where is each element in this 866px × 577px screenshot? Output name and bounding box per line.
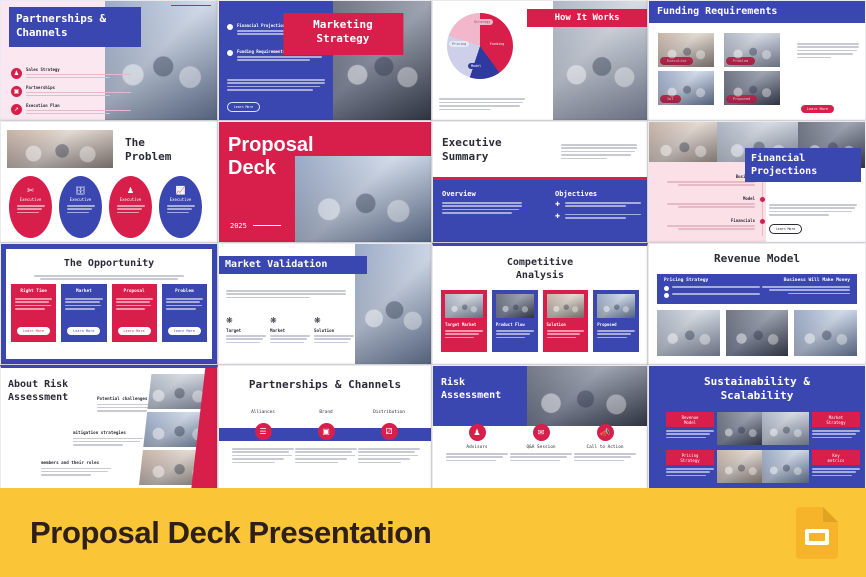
text-lines <box>666 430 714 438</box>
user-icon: ♟ <box>11 68 22 79</box>
left-heading: Pricing Strategy <box>664 278 760 283</box>
title-box: Financial Projections <box>745 148 861 182</box>
asterisk-icon: ❋ <box>270 316 310 325</box>
timeline-node <box>760 197 765 202</box>
slide-partnerships-channels-2[interactable]: Partnerships & Channels Alliances ☰ Bran… <box>218 365 432 492</box>
risk-column: ✉ Q&A Session <box>510 424 572 463</box>
item-label: Execution Plan <box>26 103 131 108</box>
text-lines <box>41 468 111 476</box>
quadrant-text: Key metrics <box>812 450 860 483</box>
quadrant-label: Revenue Model <box>666 412 714 427</box>
text-lines <box>667 203 755 208</box>
title-band: Partnerships & Channels <box>9 7 141 47</box>
quadrant-label: Key metrics <box>812 450 860 465</box>
oval-card[interactable]: ✄ Executive <box>9 176 52 238</box>
section-heading: Overview <box>442 190 522 198</box>
text-lines <box>445 330 483 338</box>
feature-item: ❋ Solution <box>314 316 354 345</box>
text-lines <box>358 448 420 463</box>
pie-label-strategy: Strategy <box>471 19 493 25</box>
card-label: Executive <box>20 197 42 202</box>
learn-more-button[interactable]: Learn More <box>227 102 260 113</box>
slide-title: Partnerships & Channels <box>9 7 141 45</box>
text-lines <box>812 430 860 438</box>
slide-image <box>657 310 720 356</box>
caption-badge: Executive <box>660 57 693 65</box>
card-label: Product Flow <box>496 322 534 327</box>
slide-title: How It Works <box>527 9 647 27</box>
slide-image <box>794 310 857 356</box>
text-lines <box>167 205 195 215</box>
text-lines <box>762 286 850 294</box>
text-lines <box>574 453 636 461</box>
item-label: Market <box>270 328 310 333</box>
text-lines <box>226 335 266 343</box>
decor-line <box>171 5 211 6</box>
card-label: Market <box>76 289 92 294</box>
user-icon: ♟ <box>469 424 486 441</box>
pie-label-model: Model <box>468 63 484 69</box>
opportunity-card[interactable]: Market Learn More <box>61 284 106 342</box>
channel-column: Alliances ☰ <box>232 410 294 465</box>
text-lines <box>666 468 714 476</box>
quadrant[interactable]: Key metrics <box>762 450 860 483</box>
text-lines <box>565 214 641 221</box>
analysis-card[interactable]: Target Market <box>441 290 487 352</box>
item-label: Sales Strategy <box>26 67 131 72</box>
thumbnail <box>496 294 534 318</box>
thumbnail <box>762 412 809 445</box>
bullet-dot <box>664 286 669 291</box>
item-label: Financials <box>667 218 755 223</box>
card-row: Target Market Product Flow Solution Prop… <box>441 290 639 352</box>
asterisk-icon: ❋ <box>226 316 266 325</box>
item-label: Target <box>226 328 266 333</box>
slide-image <box>519 366 647 426</box>
text-lines <box>442 202 522 214</box>
caption-badge: IoT <box>660 95 681 103</box>
item-label: Solution <box>314 328 354 333</box>
thumbnail <box>597 294 635 318</box>
thumbnail <box>547 294 585 318</box>
text-lines <box>270 335 310 343</box>
text-lines <box>65 298 102 312</box>
text-lines <box>26 110 131 115</box>
timeline-item: Model <box>667 196 755 210</box>
bullet-dot <box>227 24 233 30</box>
text-lines <box>314 335 354 343</box>
text-lines <box>232 448 294 463</box>
slide-funding-requirements[interactable]: Funding Requirements Executive Problem I… <box>648 0 866 121</box>
item-label: Model <box>667 196 755 201</box>
cover-year: 2025 <box>230 222 247 230</box>
text-lines <box>510 453 572 461</box>
slide-title: Executive Summary <box>442 136 502 165</box>
analysis-card[interactable]: Product Flow <box>492 290 538 352</box>
slide-partnerships-channels[interactable]: Partnerships & Channels ♟ Sales Strategy… <box>0 0 218 121</box>
timeline-item: Business <box>667 174 755 188</box>
text-lines <box>226 290 346 298</box>
text-lines <box>116 298 153 312</box>
text-lines <box>439 98 525 110</box>
chart-icon: 📈 <box>176 186 186 195</box>
title-box: Marketing Strategy <box>283 13 403 55</box>
user-icon: ♟ <box>127 186 134 195</box>
risk-column: ♟ Advisors <box>446 424 508 463</box>
card-label: Proposal <box>124 289 145 294</box>
text-lines <box>17 205 45 215</box>
channel-column: Distribution ⚂ <box>358 410 420 465</box>
thumbnail: Executive <box>658 33 714 67</box>
card-label: Executive <box>170 197 192 202</box>
slide-competitive-analysis[interactable]: Competitive Analysis Target Market Produ… <box>432 243 648 365</box>
slide-market-validation[interactable]: Market Validation ❋ Target ❋ Market ❋ So… <box>218 243 432 365</box>
card-label: Target Market <box>445 322 483 327</box>
asterisk-icon: ❋ <box>314 316 354 325</box>
title-box: How It Works <box>527 9 647 27</box>
title-band: Market Validation <box>219 256 367 274</box>
risk-section: members and their roles <box>41 460 111 478</box>
text-lines <box>73 438 143 446</box>
card-label: Solution <box>547 322 585 327</box>
megaphone-icon: 📣 <box>597 424 614 441</box>
slide-image <box>726 310 789 356</box>
decor-arrow <box>253 225 281 226</box>
quadrant-label: Market Strategy <box>812 412 860 427</box>
slide-title: The Opportunity <box>6 258 212 269</box>
card-label: Executive <box>70 197 92 202</box>
feature-item: ❋ Market <box>270 316 310 345</box>
slide-proposal-deck-cover[interactable]: Proposal Deck 2025 <box>218 121 432 243</box>
thumbnail: IoT <box>658 71 714 105</box>
oval-card[interactable]: 🗄 Executive <box>59 176 102 238</box>
column-label: Distribution <box>358 410 420 415</box>
text-lines <box>547 330 585 338</box>
opportunity-card[interactable]: Problem Learn More <box>162 284 207 342</box>
text-lines <box>26 74 131 79</box>
slide-title: Financial Projections <box>745 148 861 182</box>
slide-sustainability-scalability[interactable]: Sustainability & Scalability Revenue Mod… <box>648 365 866 492</box>
quadrant[interactable]: Revenue Model <box>666 412 764 445</box>
text-lines <box>117 205 145 215</box>
text-lines <box>667 225 755 230</box>
text-lines <box>446 453 508 461</box>
pie-label-pricing: Pricing <box>449 41 469 47</box>
risk-column: 📣 Call to Action <box>574 424 636 463</box>
share-icon: ⚂ <box>381 423 398 440</box>
channel-column: Brand ▣ <box>295 410 357 465</box>
opportunity-card[interactable]: Proposal Learn More <box>112 284 157 342</box>
slide-title: About Risk Assessment <box>8 378 68 404</box>
quadrant-text: Pricing Strategy <box>666 450 714 483</box>
card-label: Executive <box>120 197 142 202</box>
learn-more-button[interactable]: Learn More <box>118 327 151 336</box>
column-label: Brand <box>295 410 357 415</box>
text-lines <box>15 298 52 312</box>
opportunity-card[interactable]: Right Time Learn More <box>11 284 56 342</box>
section-label: mitigation strategies <box>73 430 143 435</box>
timeline-node <box>760 219 765 224</box>
card-row: Right Time Learn More Market Learn More … <box>11 284 207 342</box>
slide-the-opportunity[interactable]: The Opportunity Right Time Learn More Ma… <box>0 243 218 365</box>
risk-section: mitigation strategies <box>73 430 143 448</box>
slide-image <box>7 130 113 168</box>
slide-title: Partnerships & Channels <box>219 378 431 391</box>
column-label: Alliances <box>232 410 294 415</box>
text-lines <box>812 468 860 476</box>
thumbnail <box>445 294 483 318</box>
learn-more-button[interactable]: Learn More <box>17 327 50 336</box>
quadrant-text: Market Strategy <box>812 412 860 445</box>
thumbnail: Problem <box>724 33 780 67</box>
slide-title: Revenue Model <box>649 252 865 265</box>
card-label: Proposed <box>597 322 635 327</box>
rocket-icon: ➚ <box>11 104 22 115</box>
text-lines <box>565 202 641 209</box>
column-label: Call to Action <box>574 445 636 450</box>
text-lines <box>667 181 755 186</box>
slide-executive-summary[interactable]: Executive Summary Overview Objectives ✚ … <box>432 121 648 243</box>
timeline-item: Financials <box>667 218 755 232</box>
analysis-card[interactable]: Proposed <box>593 290 639 352</box>
feature-item: ❋ Target <box>226 316 266 345</box>
learn-more-button[interactable]: Learn More <box>67 327 100 336</box>
text-lines <box>67 205 95 215</box>
briefcase-icon: 🗄 <box>75 186 85 195</box>
card-label: Problem <box>175 289 194 294</box>
oval-card[interactable]: ♟ Executive <box>109 176 152 238</box>
title-band: Risk Assessment <box>433 366 527 426</box>
handshake-icon: ▣ <box>11 86 22 97</box>
text-lines <box>496 330 534 338</box>
slide-thumbnail-grid: Partnerships & Channels ♟ Sales Strategy… <box>0 0 866 492</box>
slide-title: Market Validation <box>219 256 367 274</box>
network-icon: ☰ <box>255 423 272 440</box>
analysis-card[interactable]: Solution <box>543 290 589 352</box>
slide-title: Marketing Strategy <box>283 13 403 47</box>
slide-title: Competitive Analysis <box>433 256 647 282</box>
info-bar: Pricing Strategy Business Will Make Mone… <box>657 274 857 304</box>
title-band: Funding Requirements <box>649 1 865 23</box>
item-label: Business <box>667 174 755 179</box>
image-row <box>657 310 857 356</box>
text-lines <box>672 293 760 298</box>
text-lines <box>672 286 760 291</box>
quadrant[interactable]: Pricing Strategy <box>666 450 764 483</box>
card-label: Right Time <box>20 289 46 294</box>
bottom-panel: Overview Objectives ✚ ✚ <box>433 180 647 242</box>
thumbnail: Proposed <box>724 71 780 105</box>
text-lines <box>597 330 635 338</box>
pie-chart: Funding Model Pricing Strategy <box>447 13 513 79</box>
learn-more-button[interactable]: Learn More <box>801 105 834 114</box>
banner-title: Proposal Deck Presentation <box>30 515 431 551</box>
text-lines <box>295 448 357 463</box>
pie-label-funding: Funding <box>487 41 507 47</box>
text-lines <box>797 43 859 58</box>
bottom-banner: Proposal Deck Presentation <box>0 488 866 577</box>
thumbnail <box>717 450 764 483</box>
text-lines <box>561 144 637 159</box>
plus-icon: ✚ <box>555 202 561 208</box>
caption-badge: Problem <box>726 57 755 65</box>
google-slides-file-icon <box>796 507 838 559</box>
slide-image <box>295 156 431 242</box>
text-lines <box>237 56 322 61</box>
item-label: Partnerships <box>26 85 131 90</box>
text-lines <box>769 204 857 216</box>
text-lines <box>26 92 131 97</box>
learn-more-button[interactable]: Learn More <box>168 327 201 336</box>
bullet-dot <box>664 293 669 298</box>
slide-revenue-model[interactable]: Revenue Model Pricing Strategy Business … <box>648 243 866 365</box>
slide-title: Risk Assessment <box>433 366 527 402</box>
caption-badge: Proposed <box>726 95 757 103</box>
slide-the-problem[interactable]: The Problem ✄ Executive 🗄 Executive ♟ Ex… <box>0 121 218 243</box>
slide-title: Sustainability & Scalability <box>649 375 865 404</box>
oval-card[interactable]: 📈 Executive <box>159 176 202 238</box>
slide-risk-assessment[interactable]: Risk Assessment ♟ Advisors ✉ Q&A Session… <box>432 365 648 492</box>
chat-icon: ✉ <box>533 424 550 441</box>
right-heading: Business Will Make Money <box>762 278 850 283</box>
slide-how-it-works[interactable]: Funding Model Pricing Strategy How It Wo… <box>432 0 648 121</box>
thumbnail <box>762 450 809 483</box>
section-label: members and their roles <box>41 460 111 465</box>
plus-icon: ✚ <box>555 214 561 220</box>
text-lines <box>227 79 325 91</box>
slide-marketing-strategy[interactable]: Financial Projections Funding Requiremen… <box>218 0 432 121</box>
section-heading: Objectives <box>555 190 641 198</box>
bullet-dot <box>227 50 233 56</box>
slide-title: The Problem <box>125 136 171 164</box>
scissors-icon: ✄ <box>27 186 34 195</box>
column-label: Q&A Session <box>510 445 572 450</box>
slide-financial-projections[interactable]: Business Model Financials Learn More Fin… <box>648 121 866 243</box>
slide-about-risk-assessment[interactable]: About Risk Assessment Potential challeng… <box>0 365 218 492</box>
column-label: Advisors <box>446 445 508 450</box>
learn-more-button[interactable]: Learn More <box>769 224 802 235</box>
quadrant[interactable]: Market Strategy <box>762 412 860 445</box>
thumbnail <box>717 412 764 445</box>
text-lines <box>166 298 203 312</box>
text-lines <box>34 275 184 280</box>
slide-title: Funding Requirements <box>649 1 865 23</box>
quadrant-text: Revenue Model <box>666 412 714 445</box>
quadrant-label: Pricing Strategy <box>666 450 714 465</box>
badge-icon: ▣ <box>318 423 335 440</box>
